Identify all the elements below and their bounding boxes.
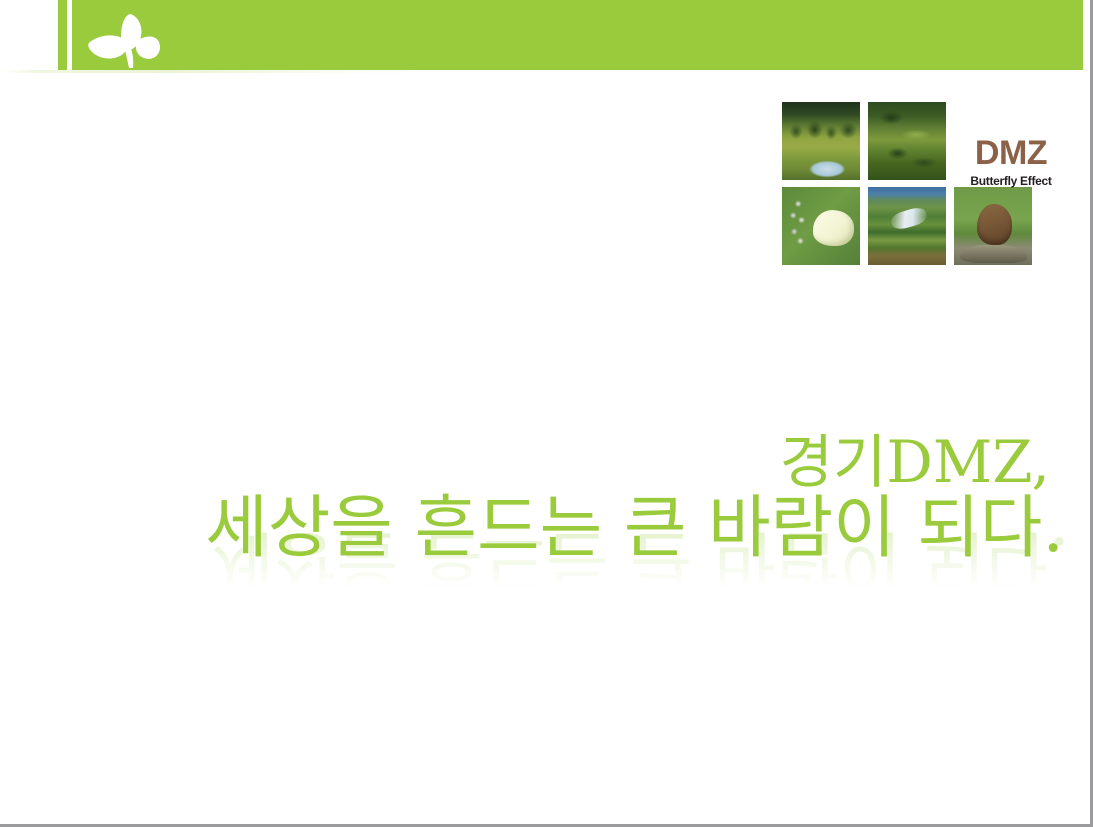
page-title: 경기DMZ, 세상을 흔드는 큰 바람이 되다. — [0, 432, 1070, 566]
page-title-line1: 경기DMZ, — [0, 432, 1070, 493]
tile-meadow-with-pond — [781, 101, 861, 181]
tile-white-butterfly-on-flower — [781, 186, 861, 266]
butterfly-icon — [86, 6, 172, 72]
dmz-tagline-text: Butterfly Effect — [962, 174, 1060, 188]
logo-tile-row-bottom — [781, 186, 1033, 266]
header-green-band — [72, 0, 1083, 70]
dmz-wordmark: DMZ Butterfly Effect — [962, 136, 1060, 188]
page-title-line2: 세상을 흔드는 큰 바람이 되다. — [0, 493, 1070, 565]
dmz-wordmark-text: DMZ — [962, 136, 1060, 170]
presentation-slide: DMZ Butterfly Effect 경기DMZ, 세상을 흔드는 큰 바람… — [0, 0, 1093, 827]
tile-forest-slope — [867, 101, 947, 181]
header-accent-bar — [58, 0, 67, 70]
tile-aerial-farmland-river — [867, 186, 947, 266]
tile-chipmunk-on-rock — [953, 186, 1033, 266]
